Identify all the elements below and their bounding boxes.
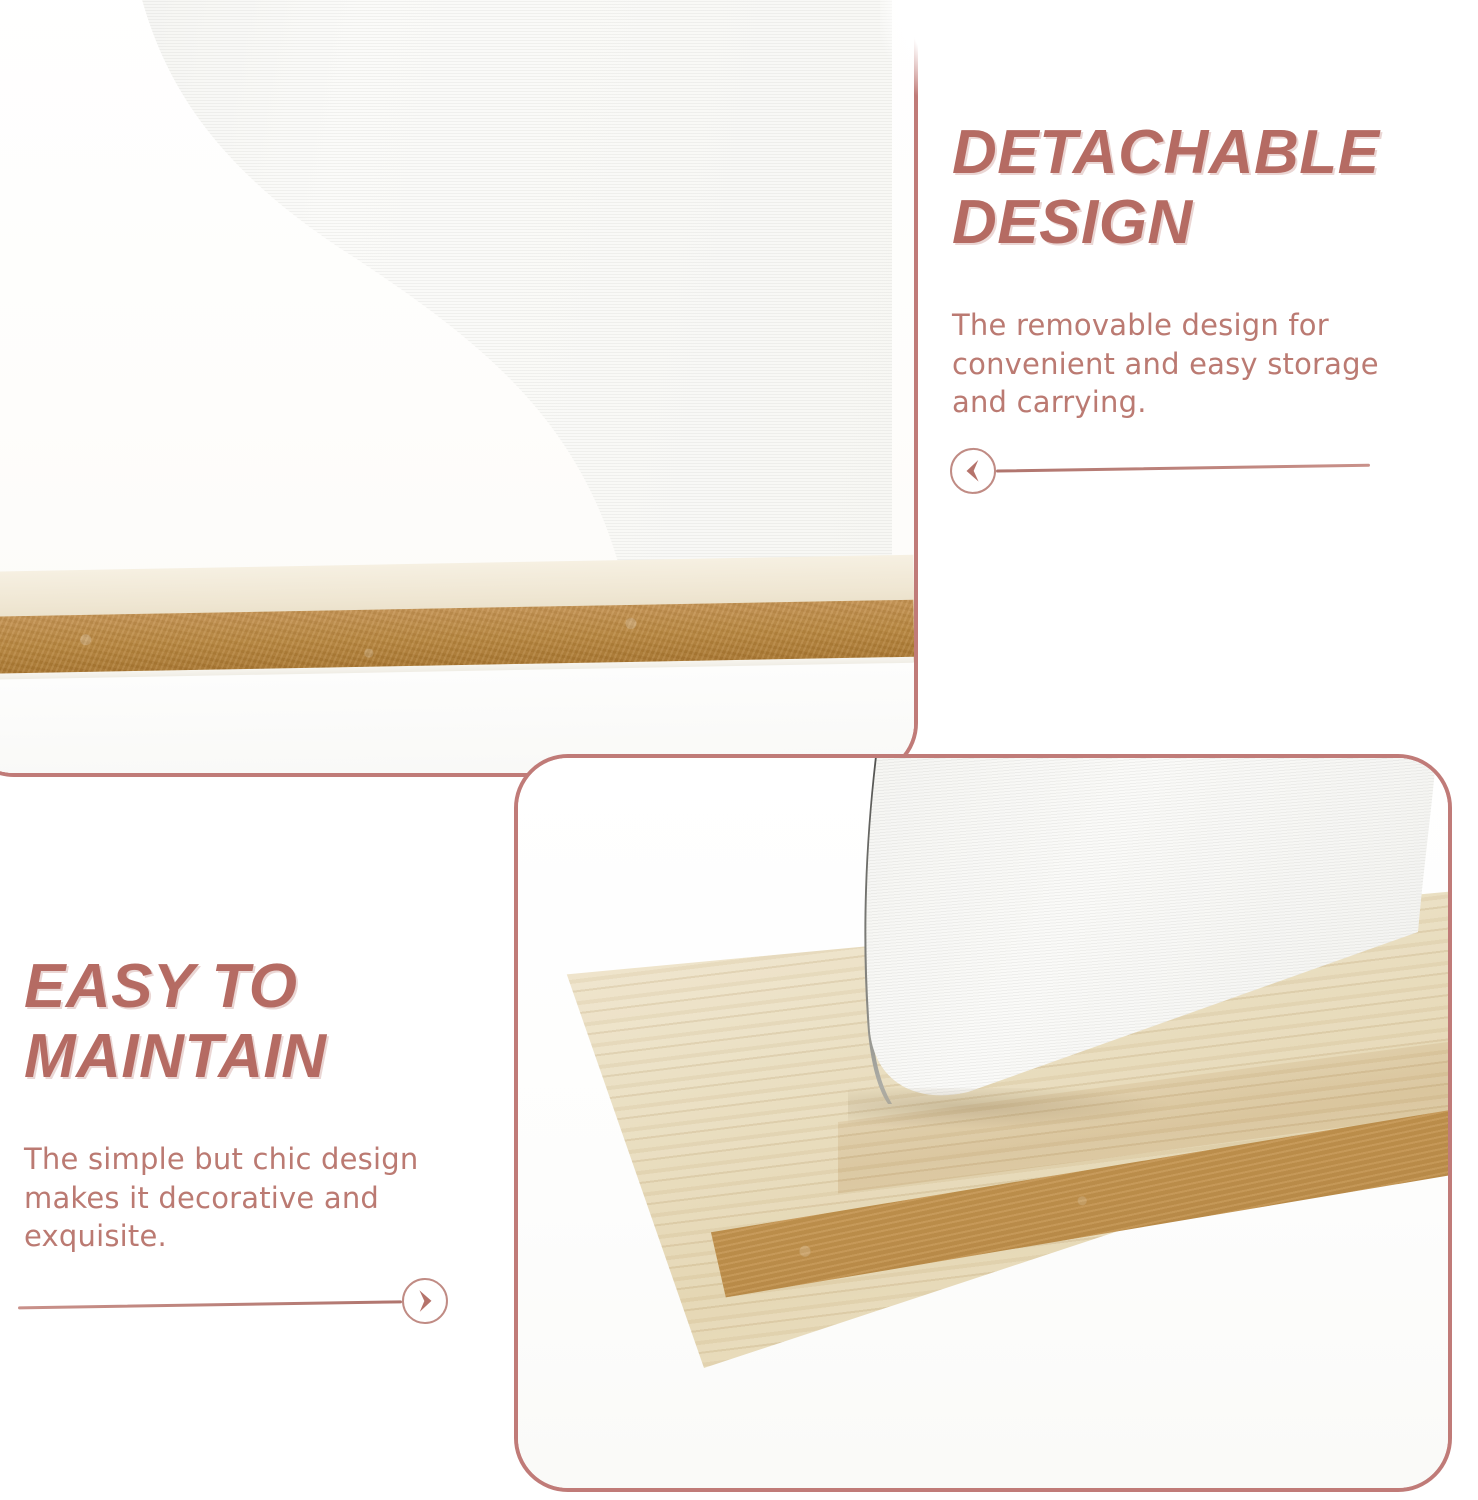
arrow-right-button[interactable] (402, 1278, 449, 1325)
photo-scene-maintain (518, 758, 1448, 1488)
product-feature-infographic: DETACHABLE DESIGN The removable design f… (0, 0, 1478, 1500)
feature-block-easy-to-maintain: EASY TO MAINTAIN The simple but chic des… (24, 952, 494, 1256)
arrow-left-button[interactable] (950, 448, 997, 495)
feature-divider-detachable-design (950, 439, 1371, 498)
feature-body-easy-to-maintain: The simple but chic design makes it deco… (24, 1140, 494, 1256)
product-photo-maintain (514, 754, 1452, 1492)
feature-divider-easy-to-maintain (18, 1275, 449, 1334)
divider-line (996, 463, 1370, 472)
contact-shadow (848, 1088, 1168, 1128)
product-photo-detachable (0, 0, 918, 777)
feature-title-easy-to-maintain: EASY TO MAINTAIN (24, 952, 494, 1092)
chevron-left-icon (960, 458, 986, 484)
photo-scene-detachable (0, 0, 914, 773)
feature-block-detachable-design: DETACHABLE DESIGN The removable design f… (952, 118, 1452, 422)
divider-line (18, 1300, 402, 1309)
chevron-right-icon (412, 1288, 438, 1314)
feature-title-detachable-design: DETACHABLE DESIGN (952, 118, 1452, 258)
feature-body-detachable-design: The removable design for convenient and … (952, 306, 1452, 422)
